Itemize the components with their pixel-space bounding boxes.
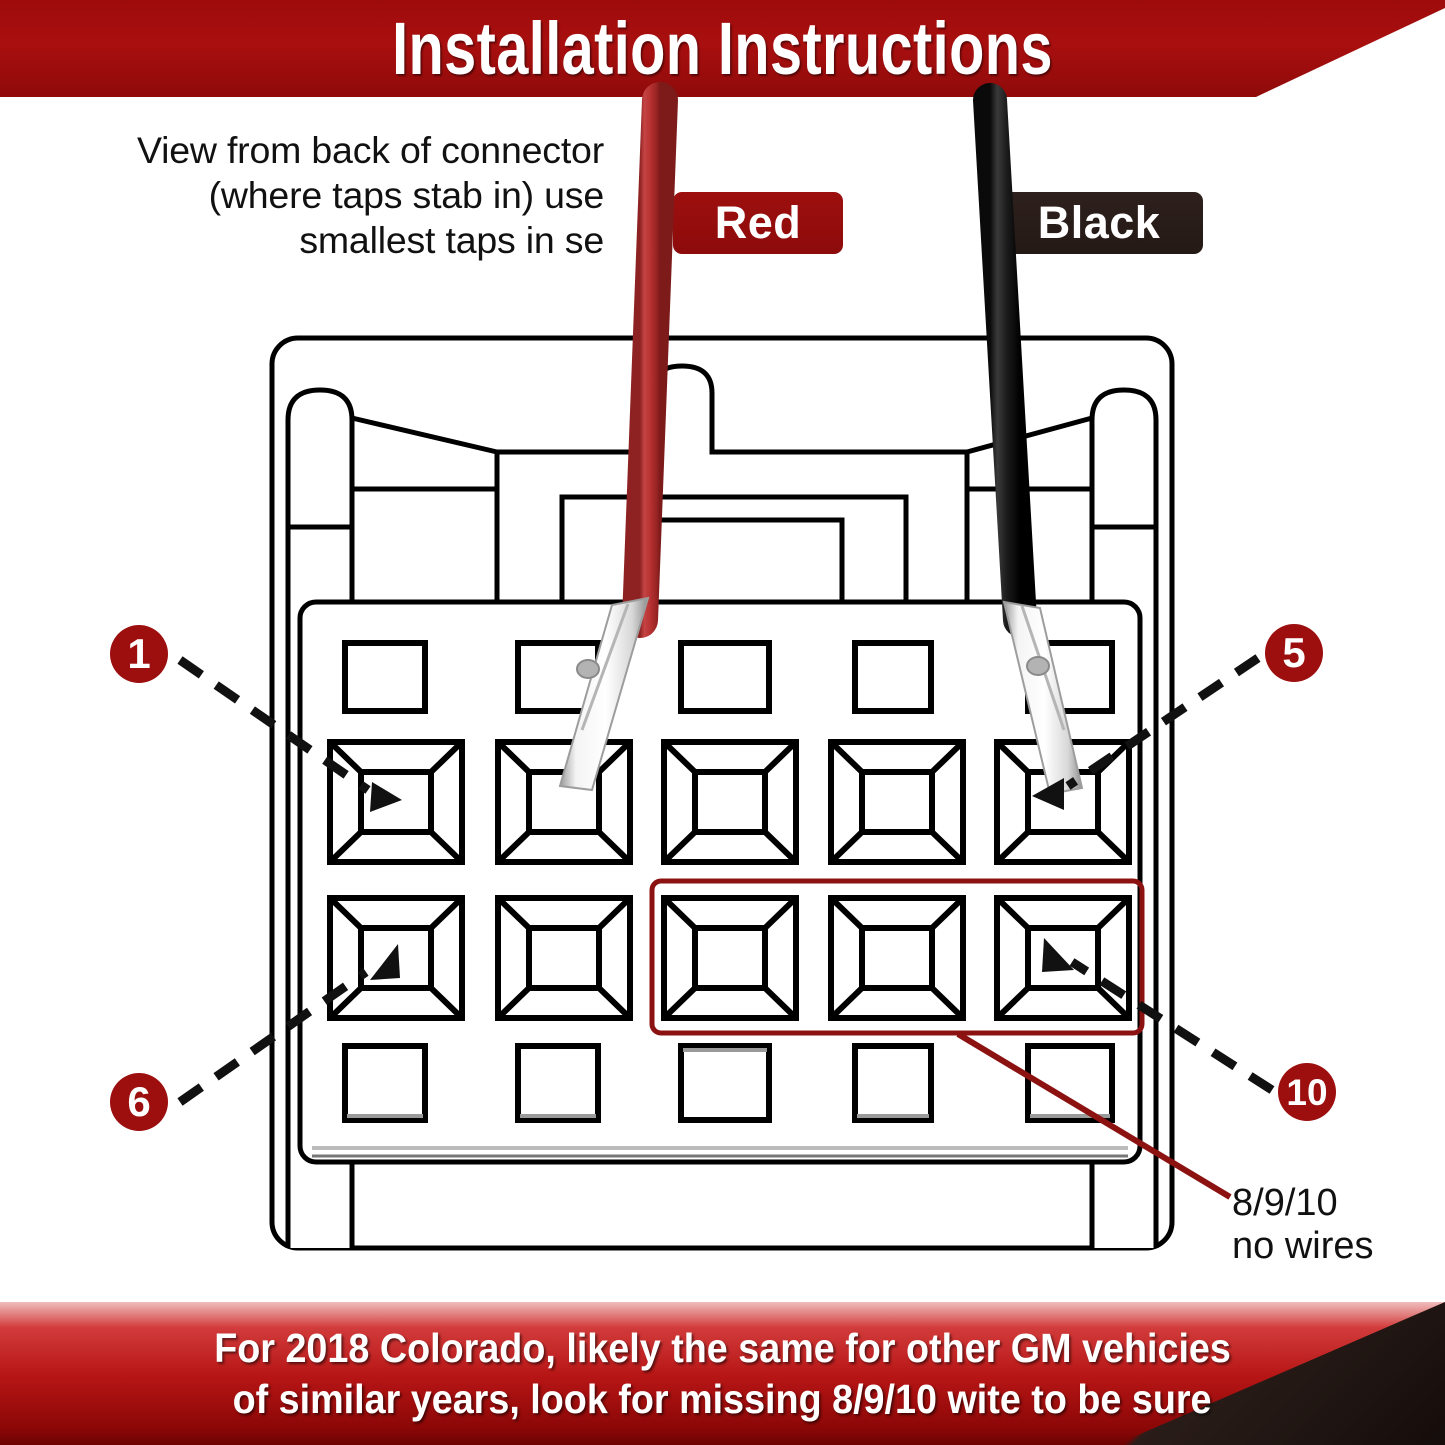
cavity-pin-4 <box>831 742 963 862</box>
upper-slot-4 <box>855 643 931 711</box>
footer-line-1: For 2018 Colorado, likely the same for o… <box>214 1323 1231 1373</box>
cavity-pin-7 <box>498 898 630 1018</box>
connector-diagram <box>0 0 1445 1445</box>
wire-red-insulation <box>640 100 660 620</box>
latch-recess-inner <box>645 520 842 602</box>
pin-badge-1: 1 <box>110 625 168 683</box>
cavity-pin-8 <box>664 898 796 1018</box>
pin-badge-5: 5 <box>1265 624 1323 682</box>
cavity-pin-9 <box>831 898 963 1018</box>
upper-slot-1 <box>345 643 425 711</box>
wire-black-blade-dimple <box>1027 657 1049 675</box>
cavity-pin-10 <box>997 898 1129 1018</box>
callout-no-wires: 8/9/10 no wires <box>1232 1182 1442 1267</box>
lower-slot-4 <box>855 1046 931 1120</box>
callout-line-1: 8/9/10 <box>1232 1182 1442 1225</box>
lower-slot-1 <box>345 1046 425 1120</box>
pin-badge-6: 6 <box>110 1073 168 1131</box>
footer-line-2: of similar years, look for missing 8/9/1… <box>233 1374 1212 1424</box>
cavity-pin-2 <box>498 742 630 862</box>
pin-badge-10: 10 <box>1278 1063 1336 1121</box>
lower-slot-2 <box>518 1046 598 1120</box>
wire-red-blade-dimple <box>577 660 599 678</box>
lower-slot-3 <box>681 1046 769 1120</box>
callout-line-2: no wires <box>1232 1225 1442 1268</box>
cavity-row-pins-6-10 <box>330 898 1129 1018</box>
footer-banner: For 2018 Colorado, likely the same for o… <box>0 1302 1445 1445</box>
cavity-pin-3 <box>664 742 796 862</box>
cavity-row-pins-1-5 <box>330 742 1129 862</box>
footer-corner-accent <box>1115 1302 1445 1445</box>
upper-slot-3 <box>681 643 769 711</box>
